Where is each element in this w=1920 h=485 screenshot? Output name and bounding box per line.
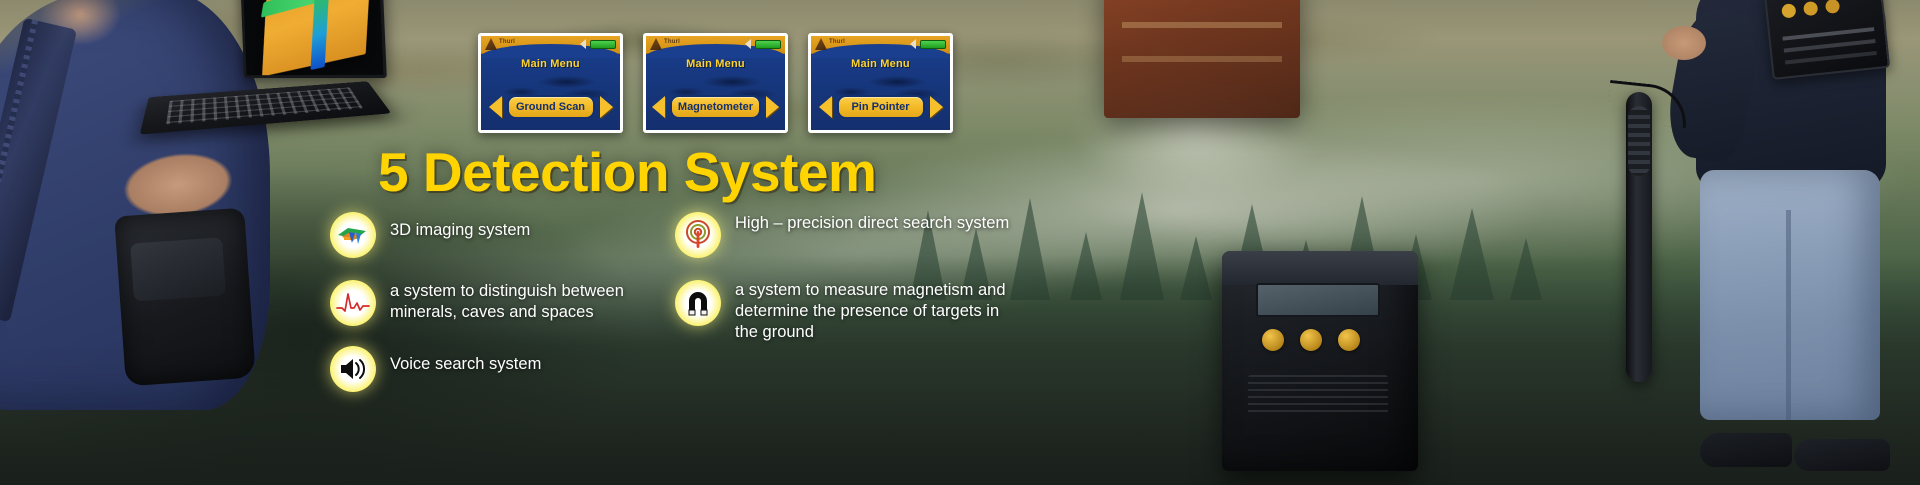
operator-shoe-left [1700,433,1792,467]
keyboard-keys [166,87,363,124]
operator-hand [1662,26,1706,60]
brand-logo-icon [650,38,662,50]
page-title: 5 Detection System [378,140,876,204]
pulse-waveform-icon [330,280,376,326]
menu-title: Main Menu [811,58,950,70]
feature-item-voice-search: Voice search system [330,346,660,392]
prev-arrow-icon[interactable] [652,96,665,118]
menu-status-bar: Thurl [811,36,950,54]
next-arrow-icon[interactable] [600,96,613,118]
detector-top-panel [1222,251,1418,285]
menu-mode-button[interactable]: Ground Scan [507,95,595,119]
menu-status-bar: Thurl [646,36,785,54]
search-probe-rod [1626,92,1652,382]
feature-item-mineral-distinguish: a system to distinguish between minerals… [330,280,660,326]
speaker-icon [580,39,586,49]
menu-selector-row: Magnetometer [646,95,785,119]
operator-shoe-right [1794,439,1890,471]
promo-banner: Thurl Main Menu Ground Scan Thurl Main M… [0,0,1920,485]
shoulder-strap [0,18,77,322]
speaker-icon [910,39,916,49]
detector-vent-grill [1248,375,1388,417]
detector-knobs [1262,329,1378,355]
3d-terrain-scan-icon [330,212,376,258]
brand-logo-label: Thurl [664,39,680,45]
menu-selector-row: Ground Scan [481,95,620,119]
feature-item-3d-imaging: 3D imaging system [330,212,660,258]
next-arrow-icon[interactable] [930,96,943,118]
menu-card-magnetometer[interactable]: Thurl Main Menu Magnetometer [643,33,788,133]
feature-label: Voice search system [390,346,541,375]
brand-logo-icon [815,38,827,50]
radar-signal-icon [675,212,721,258]
next-arrow-icon[interactable] [766,96,779,118]
feature-item-high-precision: High – precision direct search system [675,212,1025,258]
feature-label: 3D imaging system [390,212,530,241]
menu-status-bar: Thurl [481,36,620,54]
battery-icon [590,40,616,49]
speaker-icon [745,39,751,49]
battery-icon [920,40,946,49]
menu-card-ground-scan[interactable]: Thurl Main Menu Ground Scan [478,33,623,133]
laptop-device [148,0,398,152]
equipment-bag [114,208,256,387]
treasure-chest-photo [1104,0,1300,118]
menu-selector-row: Pin Pointer [811,95,950,119]
feature-item-magnetism: a system to measure magnetism and determ… [675,280,1025,343]
feature-label: High – precision direct search system [735,212,1009,234]
brand-logo-icon [485,38,497,50]
laptop-screen [240,0,387,78]
feature-label: a system to distinguish between minerals… [390,280,660,323]
operator-right-photo [1620,0,1920,485]
prev-arrow-icon[interactable] [819,96,832,118]
battery-icon [755,40,781,49]
menu-title: Main Menu [481,58,620,70]
laptop-keyboard-base [140,81,392,134]
horseshoe-magnet-icon [675,280,721,326]
detector-display [1256,283,1380,317]
3d-scan-visualization [262,0,371,77]
brand-logo-label: Thurl [499,39,515,45]
operator-jeans [1700,170,1880,420]
features-left-column: 3D imaging system a system to distinguis… [330,212,660,410]
features-right-column: High – precision direct search system a … [675,212,1025,361]
prev-arrow-icon[interactable] [489,96,502,118]
menu-card-pin-pointer[interactable]: Thurl Main Menu Pin Pointer [808,33,953,133]
menu-mode-button[interactable]: Magnetometer [670,95,761,119]
speaker-sound-icon [330,346,376,392]
menu-mode-button[interactable]: Pin Pointer [837,95,925,119]
menu-title: Main Menu [646,58,785,70]
menu-screens-row: Thurl Main Menu Ground Scan Thurl Main M… [478,33,953,133]
detector-main-unit [1222,251,1418,471]
feature-label: a system to measure magnetism and determ… [735,280,1025,343]
brand-logo-label: Thurl [829,39,845,45]
handheld-tablet-device [1764,0,1891,80]
